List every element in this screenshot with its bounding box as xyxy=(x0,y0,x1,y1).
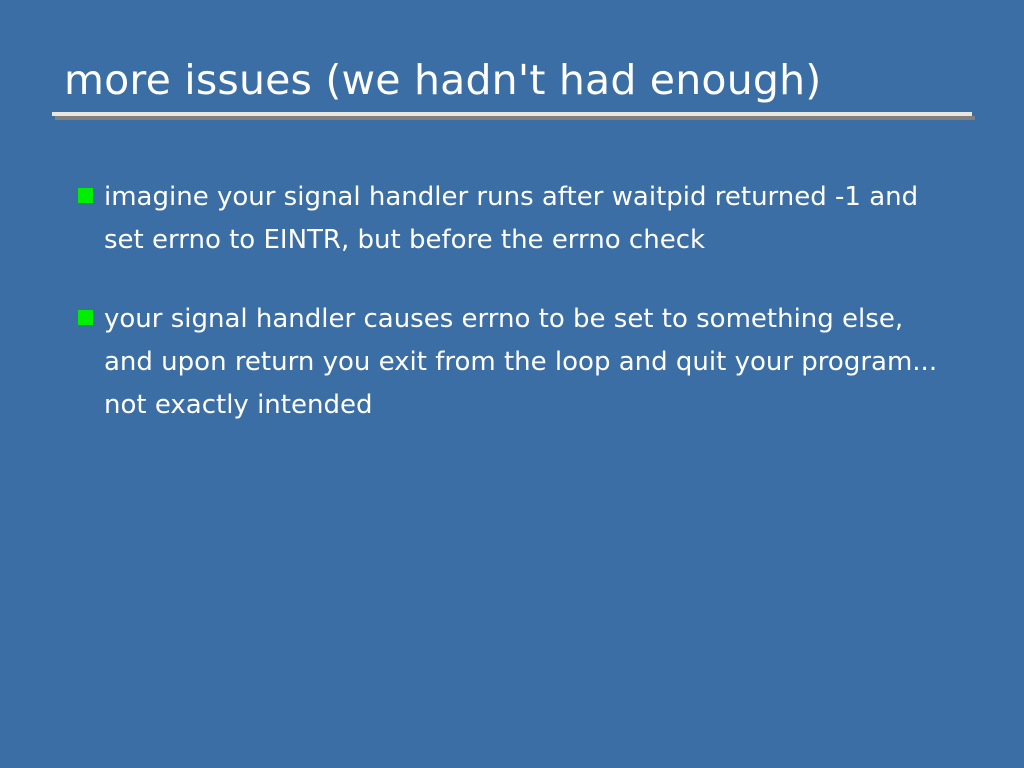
presentation-slide: more issues (we hadn't had enough) imagi… xyxy=(0,0,1024,768)
page-title: more issues (we hadn't had enough) xyxy=(64,52,822,108)
bullet-text: imagine your signal handler runs after w… xyxy=(104,176,958,262)
slide-title-block: more issues (we hadn't had enough) xyxy=(52,52,972,124)
green-square-bullet-icon xyxy=(78,310,93,325)
list-item: your signal handler causes errno to be s… xyxy=(78,298,958,427)
list-item: imagine your signal handler runs after w… xyxy=(78,176,958,262)
green-square-bullet-icon xyxy=(78,188,93,203)
title-underline-shadow xyxy=(55,116,975,120)
slide-body: imagine your signal handler runs after w… xyxy=(78,176,958,427)
bullet-text: your signal handler causes errno to be s… xyxy=(104,298,958,427)
